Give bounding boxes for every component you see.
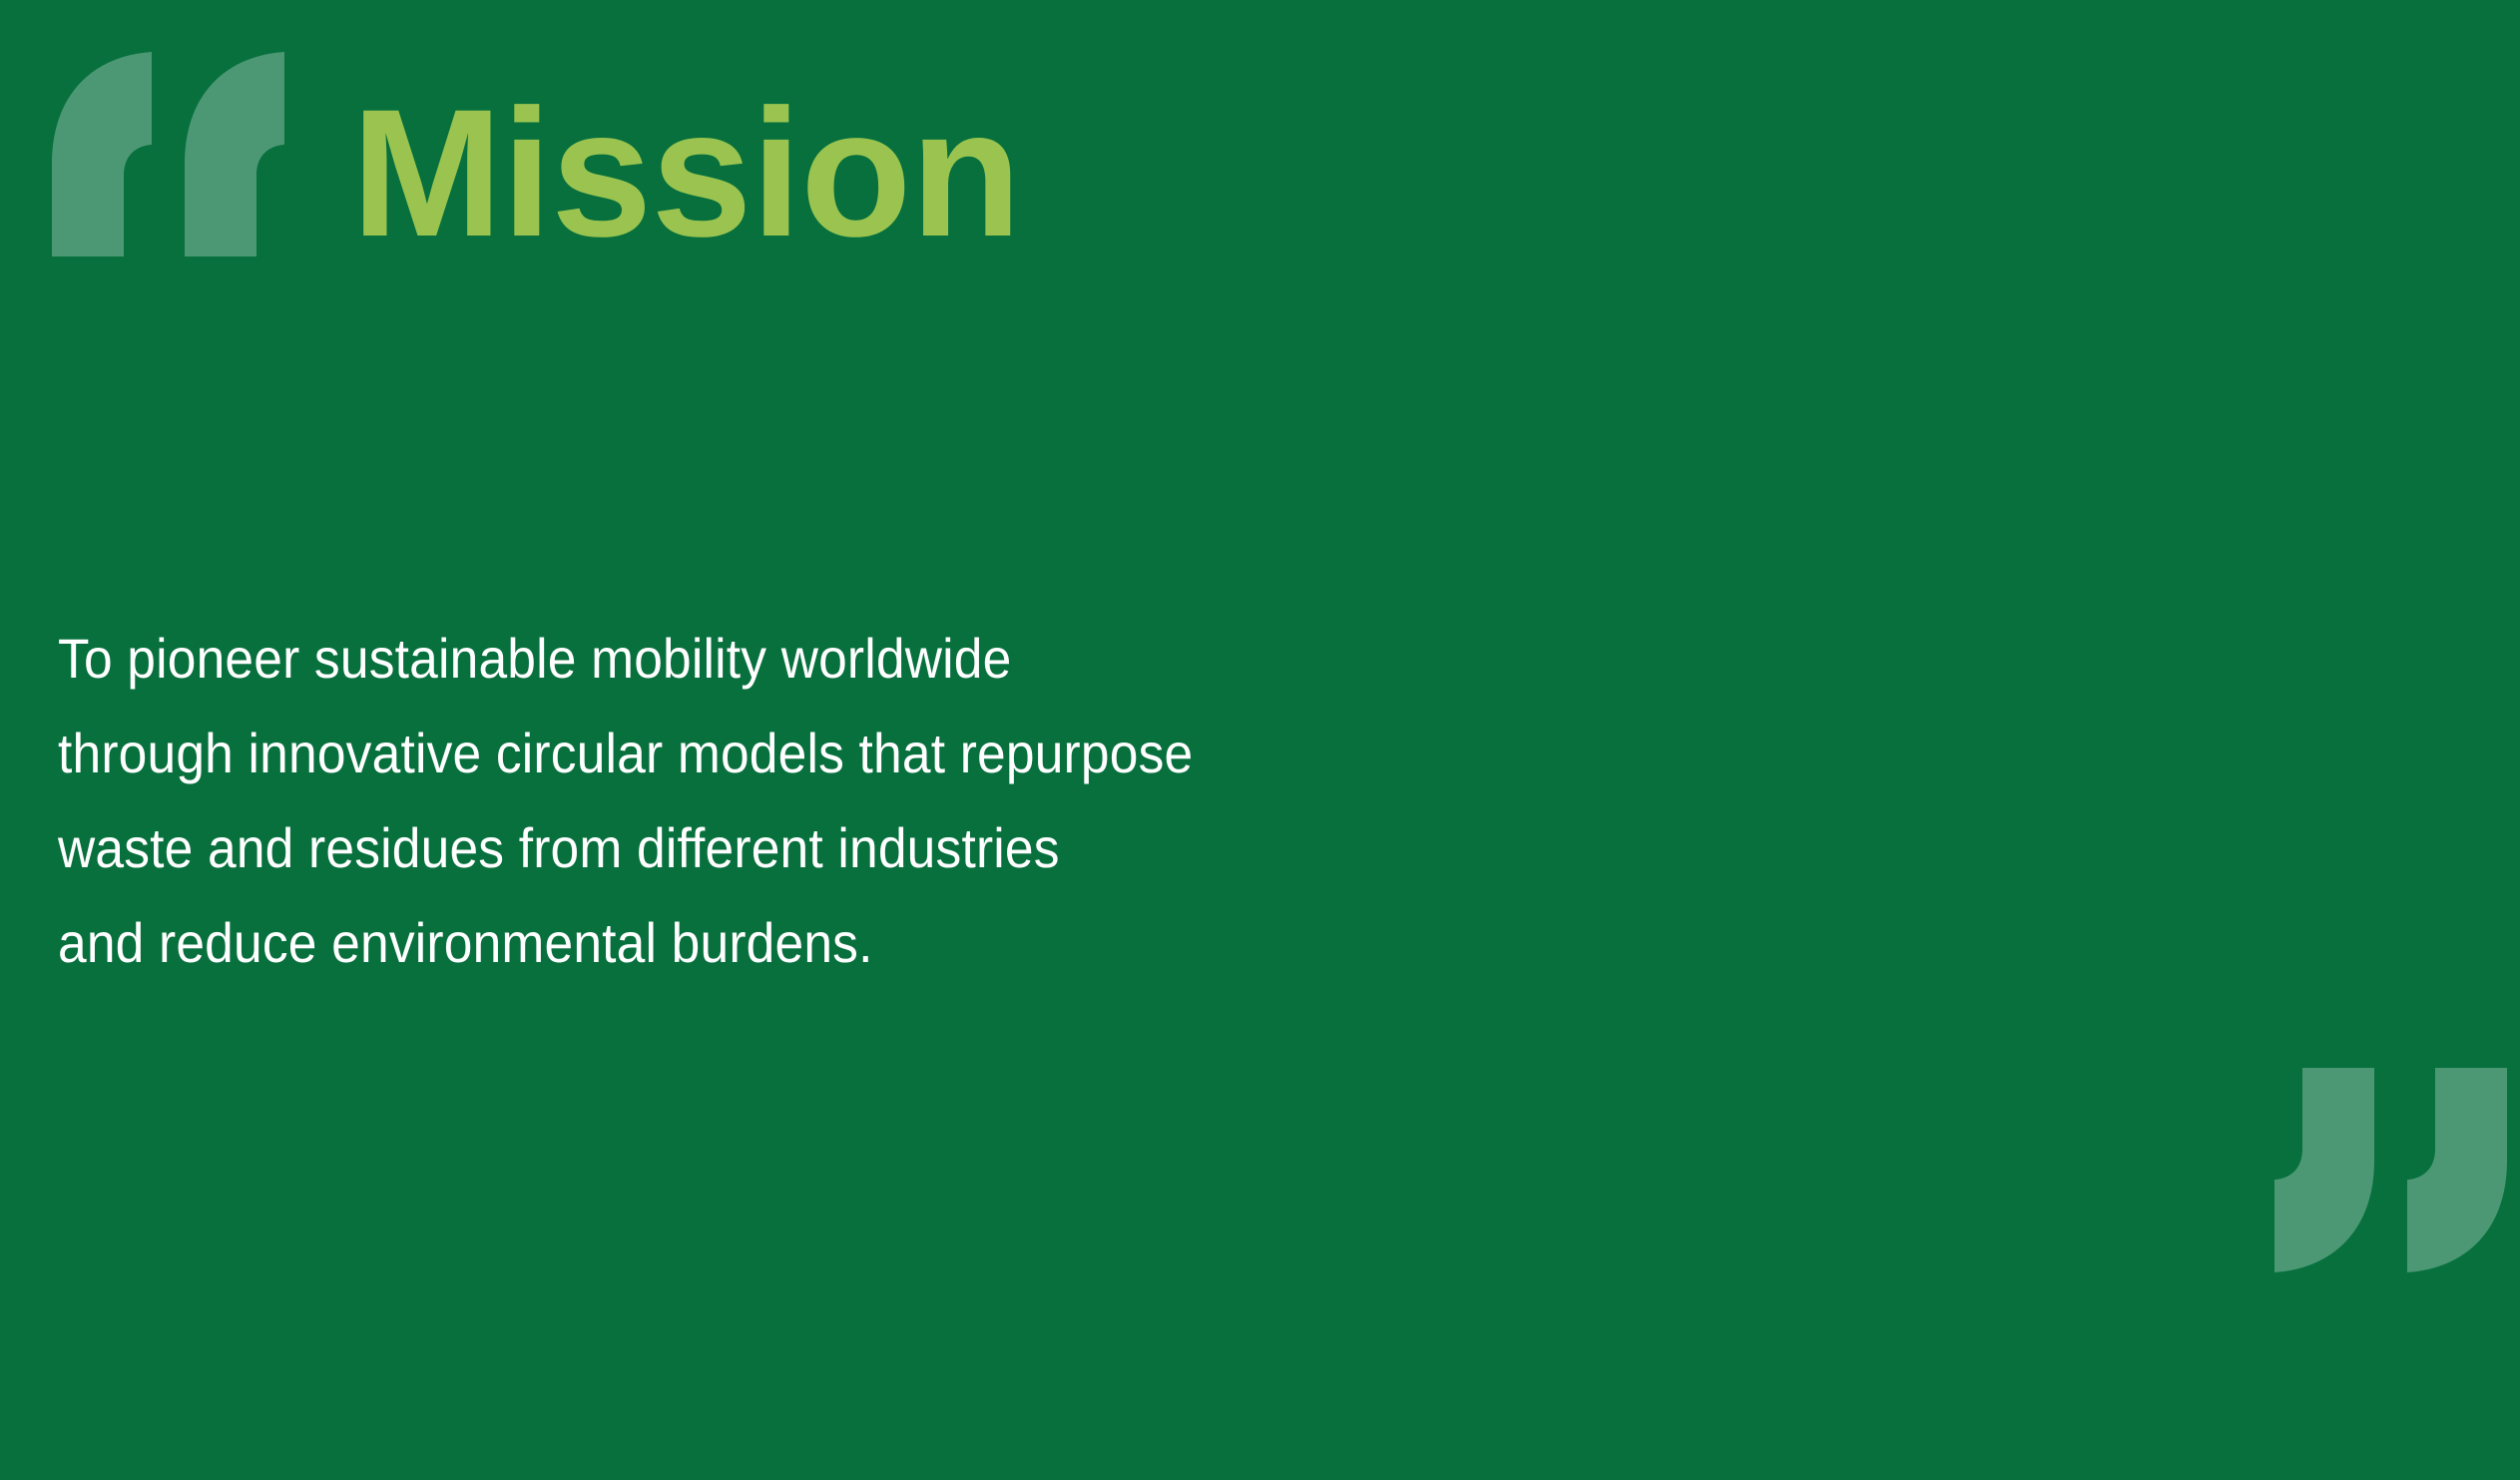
mission-slide: Mission To pioneer sustainable mobility … bbox=[0, 0, 2520, 1480]
mission-line-2: through innovative circular models that … bbox=[58, 706, 1894, 800]
page-title: Mission bbox=[351, 82, 1021, 263]
close-quote-icon bbox=[2268, 1068, 2507, 1272]
mission-statement: To pioneer sustainable mobility worldwid… bbox=[58, 611, 2054, 990]
title-row: Mission bbox=[0, 0, 2520, 299]
mission-line-3: waste and residues from different indust… bbox=[58, 800, 1894, 895]
mission-line-4: and reduce environmental burdens. bbox=[58, 895, 1894, 990]
mission-line-1: To pioneer sustainable mobility worldwid… bbox=[58, 611, 1894, 706]
